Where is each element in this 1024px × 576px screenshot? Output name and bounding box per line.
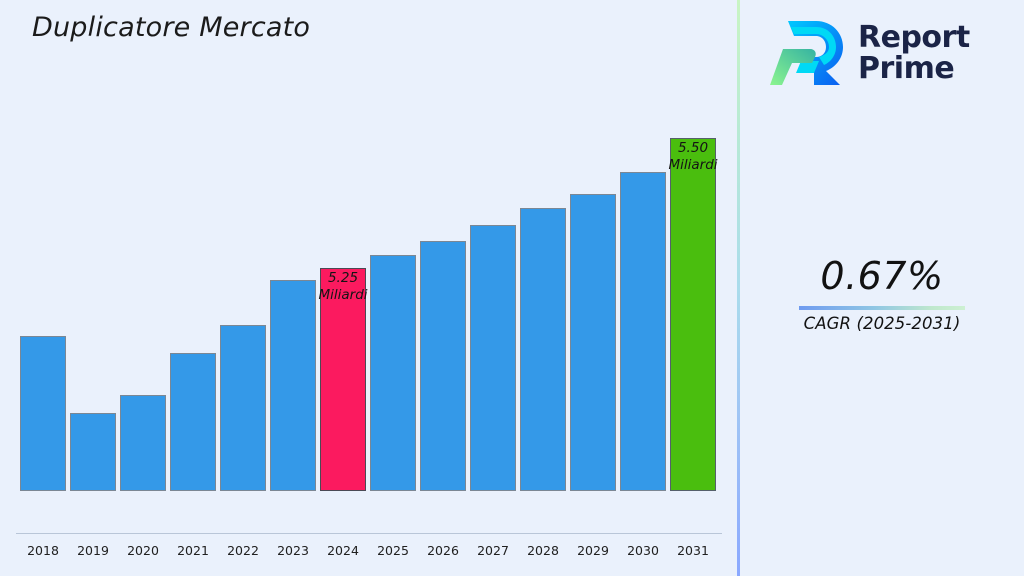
brand-name-line1: Report	[858, 22, 970, 53]
bar-chart-plot-area: 5.25Miliardi5.50Miliardi 201820192020202…	[0, 0, 737, 534]
x-tick-2020: 2020	[120, 543, 166, 558]
bar-2022	[220, 325, 266, 491]
brand-logo: Report Prime	[770, 14, 1010, 92]
x-tick-2028: 2028	[520, 543, 566, 558]
x-axis-line	[16, 533, 722, 534]
bar-2030	[620, 172, 666, 491]
brand-wordmark: Report Prime	[858, 22, 970, 84]
x-tick-2031: 2031	[670, 543, 716, 558]
x-tick-2022: 2022	[220, 543, 266, 558]
bar-2028	[520, 208, 566, 491]
bar-2019	[70, 413, 116, 491]
bar-value-unit-2024: Miliardi	[293, 287, 393, 304]
bar-2026	[420, 241, 466, 491]
x-tick-2024: 2024	[320, 543, 366, 558]
bar-value-number-2031: 5.50	[643, 140, 743, 157]
bar-value-label-2024: 5.25Miliardi	[293, 270, 393, 304]
bar-2027	[470, 225, 516, 491]
x-tick-2029: 2029	[570, 543, 616, 558]
bar-2029	[570, 194, 616, 491]
chart-panel: Duplicatore Mercato 5.25Miliardi5.50Mili…	[0, 0, 737, 576]
report-prime-r-monogram-icon	[770, 17, 848, 89]
cagr-divider	[799, 306, 965, 310]
x-tick-2018: 2018	[20, 543, 66, 558]
x-tick-2023: 2023	[270, 543, 316, 558]
bar-value-unit-2031: Miliardi	[643, 157, 743, 174]
cagr-block: 0.67% CAGR (2025-2031)	[740, 252, 1024, 333]
cagr-caption: CAGR (2025-2031)	[740, 314, 1024, 333]
chart-infographic-page: Duplicatore Mercato 5.25Miliardi5.50Mili…	[0, 0, 1024, 576]
bar-2031	[670, 138, 716, 491]
x-tick-2026: 2026	[420, 543, 466, 558]
x-tick-2019: 2019	[70, 543, 116, 558]
bar-2021	[170, 353, 216, 491]
x-tick-2025: 2025	[370, 543, 416, 558]
bar-2020	[120, 395, 166, 491]
x-tick-2021: 2021	[170, 543, 216, 558]
bar-value-number-2024: 5.25	[293, 270, 393, 287]
brand-name-line2: Prime	[858, 53, 970, 84]
bar-2018	[20, 336, 66, 491]
x-tick-2030: 2030	[620, 543, 666, 558]
bar-value-label-2031: 5.50Miliardi	[643, 140, 743, 174]
x-tick-2027: 2027	[470, 543, 516, 558]
brand-panel: Report Prime 0.67% CAGR (2025-2031)	[740, 0, 1024, 576]
cagr-value: 0.67%	[740, 252, 1024, 300]
bar-2023	[270, 280, 316, 491]
